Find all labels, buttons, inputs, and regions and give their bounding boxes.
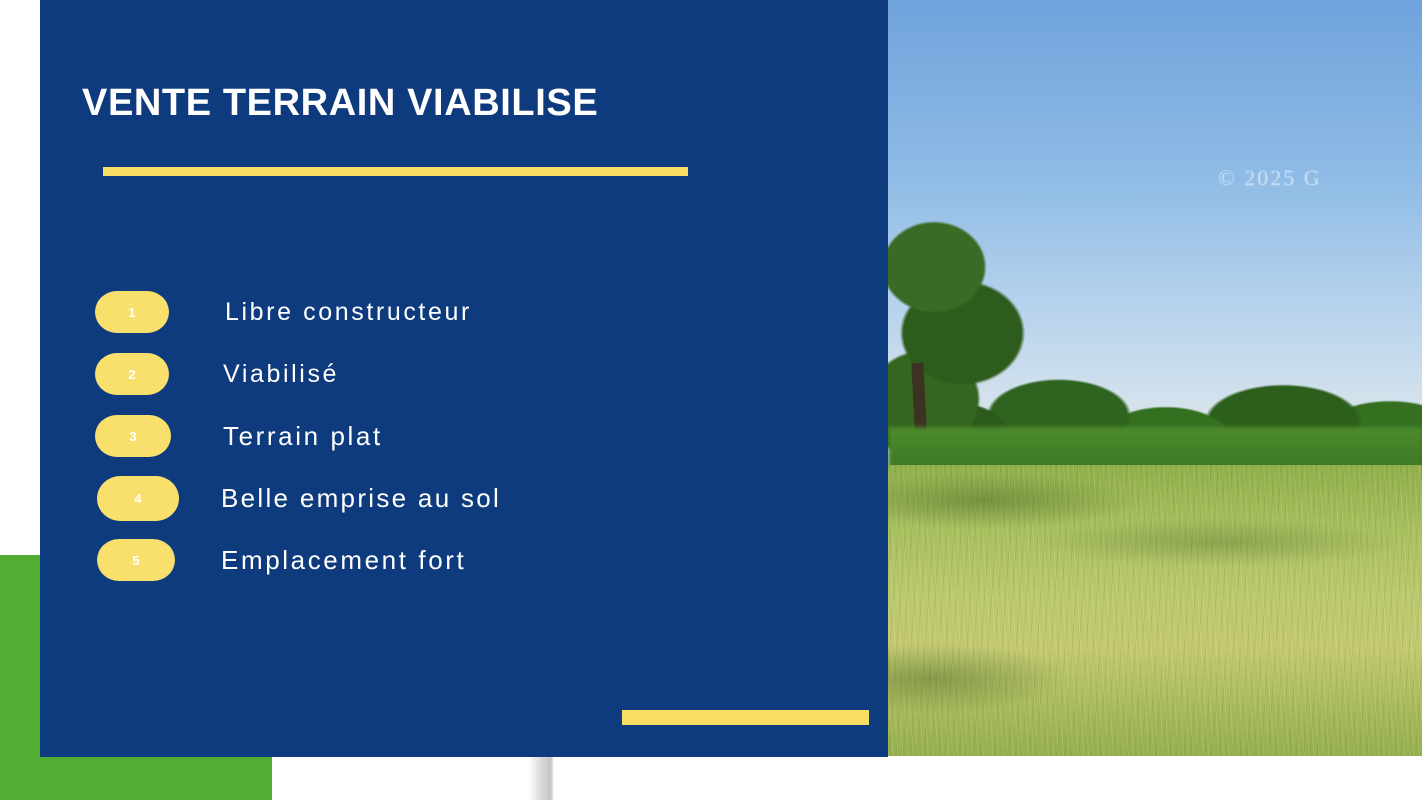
content-panel: VENTE TERRAIN VIABILISE 1 Libre construc… bbox=[40, 0, 888, 757]
property-photo: © 2025 G bbox=[888, 0, 1422, 762]
list-item: 3 Terrain plat bbox=[95, 405, 715, 467]
feature-number-badge: 2 bbox=[95, 353, 169, 395]
panel-drop-shadow bbox=[528, 757, 554, 800]
feature-number-badge: 4 bbox=[97, 476, 179, 521]
list-item: 4 Belle emprise au sol bbox=[97, 467, 715, 529]
list-item: 1 Libre constructeur bbox=[95, 281, 715, 343]
photo-meadow-shading bbox=[888, 465, 1422, 762]
list-item: 2 Viabilisé bbox=[95, 343, 715, 405]
photo-bottom-edge bbox=[888, 756, 1422, 762]
photo-watermark: © 2025 G bbox=[1218, 165, 1322, 191]
feature-number-badge: 3 bbox=[95, 415, 171, 457]
slide-canvas: © 2025 G VENTE TERRAIN VIABILISE 1 Libre… bbox=[0, 0, 1422, 800]
feature-label: Terrain plat bbox=[223, 421, 383, 452]
list-item: 5 Emplacement fort bbox=[97, 529, 715, 591]
feature-label: Emplacement fort bbox=[221, 545, 466, 576]
feature-number-badge: 1 bbox=[95, 291, 169, 333]
feature-list: 1 Libre constructeur 2 Viabilisé 3 Terra… bbox=[95, 281, 715, 591]
bottom-accent-rule bbox=[622, 710, 869, 725]
page-title: VENTE TERRAIN VIABILISE bbox=[82, 82, 598, 125]
title-underline-rule bbox=[103, 167, 688, 176]
feature-label: Libre constructeur bbox=[225, 298, 472, 327]
feature-label: Viabilisé bbox=[223, 360, 339, 389]
feature-label: Belle emprise au sol bbox=[221, 483, 501, 514]
feature-number-badge: 5 bbox=[97, 539, 175, 581]
